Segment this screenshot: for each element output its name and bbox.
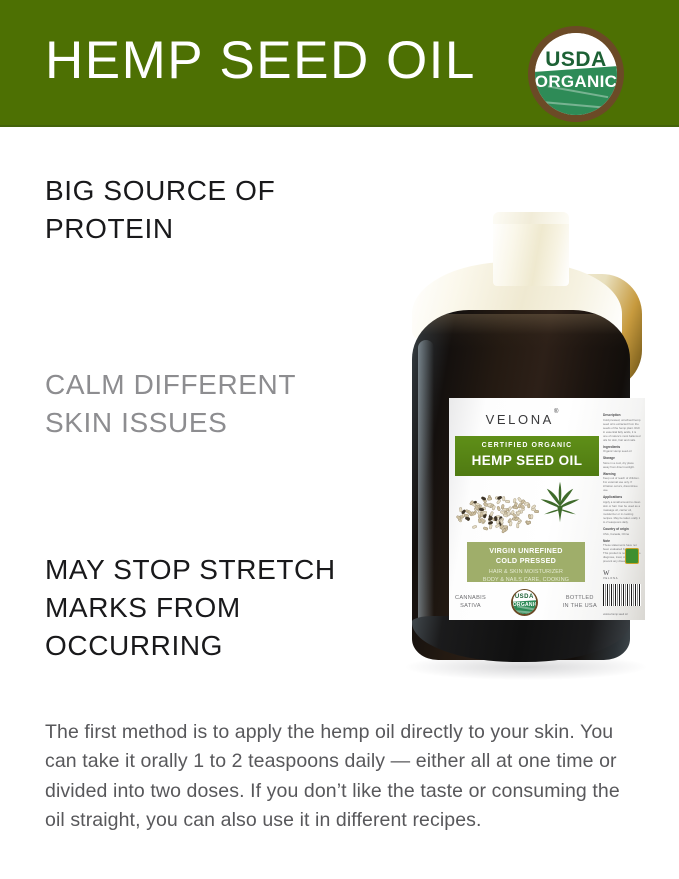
benefit-heading-3: MAY STOP STRETCH MARKS FROM OCCURRING [45,551,385,665]
fineprint-body: Store in a cool, dry place away from dir… [603,461,641,469]
label-side-panel: Description Cold pressed, unrefined hemp… [599,398,645,620]
usda-seal-bottom-text: ORGANIC [513,602,536,608]
velona-logo-subtext: VELONA [603,577,641,580]
label-bottom-row: CANNABIS SATIVA USDA ORGANIC BOTTLED IN … [455,588,597,616]
usda-seal-bottom-text: ORGANIC [535,72,618,92]
label-cannabis-sativa: CANNABIS SATIVA [455,594,486,610]
hemp-seed [516,523,519,528]
label-virgin-line: VIRGIN UNREFINED COLD PRESSED [467,546,585,566]
body-paragraph: The first method is to apply the hemp oi… [45,718,639,836]
hemp-seed [477,518,481,523]
bottle-cap [493,212,569,224]
fineprint-body: Cold pressed, unrefined hemp seed oil is… [603,418,641,442]
page-title: HEMP SEED OIL [45,30,476,92]
hemp-seed [489,511,494,517]
label-certified-organic: CERTIFIED ORGANIC [455,440,599,451]
label-product-name: HEMP SEED OIL [455,451,599,470]
hemp-seed [488,524,492,530]
label-green-band: CERTIFIED ORGANIC HEMP SEED OIL [455,436,599,476]
hemp-seed [508,521,512,527]
label-front-panel: VELONA® CERTIFIED ORGANIC HEMP SEED OIL [449,398,595,620]
fineprint-body: Organic Hemp seed oil [603,449,641,453]
barcode-icon [603,584,641,606]
organic-leaf-badge-icon [625,548,639,564]
hemp-seed [530,514,534,519]
label-brand: VELONA® [449,412,595,427]
hemp-seed [482,526,488,531]
hemp-seed [465,516,471,521]
label-bottled-in-usa: BOTTLED IN THE USA [563,594,597,610]
hemp-seed [491,504,496,510]
fineprint-body: Apply a small amount to clean skin or ha… [603,500,641,524]
label-brand-text: VELONA [486,412,554,427]
product-label: VELONA® CERTIFIED ORGANIC HEMP SEED OIL [449,398,645,620]
cannabis-leaf-icon [537,480,583,524]
hemp-seed [504,499,509,503]
usda-organic-seal-icon: USDA ORGANIC [511,589,538,616]
oil-surface-line [412,314,630,348]
barcode-caption: velona hemp seed oil [603,613,628,616]
velona-logo-mark: w VELONA [603,567,641,580]
label-uses-line: HAIR & SKIN MOISTURIZER BODY & NAILS CAR… [467,568,585,584]
usda-organic-seal-icon: USDA ORGANIC [528,26,624,122]
fineprint-body: USA, Canada, China [603,532,641,536]
label-imagery [453,478,599,540]
header-banner: HEMP SEED OIL USDA ORGANIC [0,0,679,127]
fineprint-body: Keep out of reach of children. For exter… [603,476,641,492]
registered-mark-icon: ® [554,409,558,415]
bottle-highlight [418,340,434,640]
hemp-seed [487,496,492,500]
benefit-heading-1: BIG SOURCE OF PROTEIN [45,172,375,248]
label-info-box: VIRGIN UNREFINED COLD PRESSED HAIR & SKI… [467,542,585,582]
hemp-seed [496,499,502,505]
hemp-seed [472,525,478,530]
benefit-heading-2: CALM DIFFERENT SKIN ISSUES [45,366,375,442]
hemp-seed-oil-jug-photo: VELONA® CERTIFIED ORGANIC HEMP SEED OIL [398,212,660,682]
